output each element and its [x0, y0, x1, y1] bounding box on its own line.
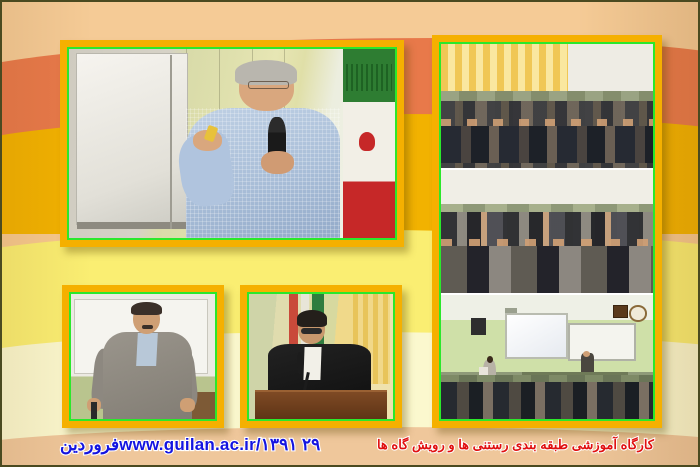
main-speaker-photo-frame — [60, 40, 404, 247]
poster-canvas: www.guilan.ac.ir/۱۳۹۱ ۲۹فروردین کارگاه آ… — [0, 0, 700, 467]
speaker-podium-photo-inner — [247, 292, 395, 421]
lecture-hall-wide-slot — [441, 295, 653, 419]
speaker-grey-suit-photo — [71, 294, 215, 419]
main-speaker-photo — [69, 49, 395, 238]
audience-front-rows-slot — [441, 44, 653, 170]
audience-photo-stack-inner — [439, 42, 655, 421]
workshop-title-caption: کارگاه آموزشی طبقه بندی رستنی ها و رویش … — [377, 437, 654, 453]
lecture-hall-wide-photo — [441, 295, 653, 419]
speaker-grey-suit-photo-inner — [69, 292, 217, 421]
speaker-podium-photo-frame — [240, 285, 402, 428]
audience-mixed-slot — [441, 170, 653, 296]
main-speaker-photo-inner — [67, 47, 397, 240]
audience-photo-stack-frame — [432, 35, 662, 428]
website-and-date-caption: www.guilan.ac.ir/۱۳۹۱ ۲۹فروردین — [60, 435, 320, 455]
speaker-grey-suit-photo-frame — [62, 285, 224, 428]
audience-front-rows-photo — [441, 44, 653, 168]
speaker-podium-photo — [249, 294, 393, 419]
audience-mixed-photo — [441, 170, 653, 294]
